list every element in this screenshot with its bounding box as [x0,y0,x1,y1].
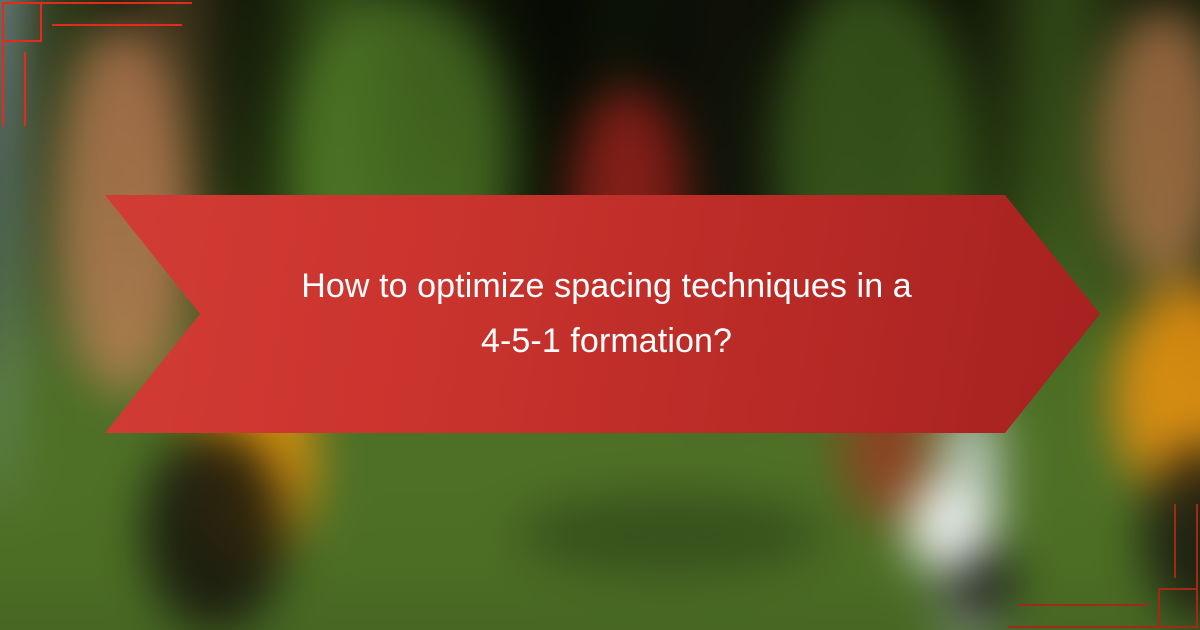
headline-banner: How to optimize spacing techniques in a … [105,195,1100,433]
ornament-line-vertical-1 [2,42,4,126]
ornament-line-horizontal-2 [1018,604,1148,606]
ornament-square-icon [2,2,42,42]
ornament-line-vertical-2 [1174,504,1176,578]
corner-ornament-top-left [0,0,200,130]
ornament-square-icon [1158,588,1198,628]
ornament-line-vertical-2 [24,52,26,126]
ornament-line-vertical-1 [1196,504,1198,588]
ornament-line-horizontal-1 [42,2,192,4]
social-card: How to optimize spacing techniques in a … [0,0,1200,630]
page-title: How to optimize spacing techniques in a … [227,259,987,369]
background-blob-field-shadow [514,493,828,574]
background-blob-shorts-left [144,428,287,630]
corner-ornament-bottom-right [1000,500,1200,630]
ornament-line-horizontal-1 [1008,626,1158,628]
ornament-line-horizontal-2 [52,24,182,26]
background-blob-ball [907,477,985,574]
